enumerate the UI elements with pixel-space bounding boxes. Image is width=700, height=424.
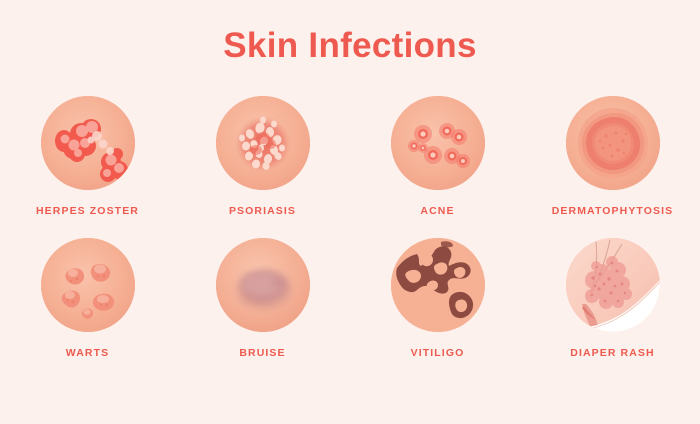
condition-label: ACNE — [420, 205, 454, 217]
condition-label: HERPES ZOSTER — [36, 205, 139, 217]
psoriasis-skin-icon — [216, 96, 310, 190]
condition-card-bruise[interactable]: BRUISE — [175, 238, 350, 380]
condition-label: VITILIGO — [411, 347, 465, 359]
condition-label: PSORIASIS — [229, 205, 296, 217]
dermatophytosis-skin-icon — [566, 96, 660, 190]
condition-label: DERMATOPHYTOSIS — [552, 205, 674, 217]
conditions-grid: HERPES ZOSTER — [0, 96, 700, 380]
condition-card-herpes-zoster[interactable]: HERPES ZOSTER — [0, 96, 175, 238]
acne-skin-icon — [391, 96, 485, 190]
condition-label: BRUISE — [239, 347, 285, 359]
warts-skin-icon — [41, 238, 135, 332]
condition-card-warts[interactable]: WARTS — [0, 238, 175, 380]
diaper-rash-skin-icon — [566, 238, 660, 332]
condition-label: DIAPER RASH — [570, 347, 654, 359]
condition-card-vitiligo[interactable]: VITILIGO — [350, 238, 525, 380]
page-title: Skin Infections — [0, 24, 700, 68]
condition-card-diaper-rash[interactable]: DIAPER RASH — [525, 238, 700, 380]
condition-card-acne[interactable]: ACNE — [350, 96, 525, 238]
vitiligo-skin-icon — [391, 238, 485, 332]
condition-label: WARTS — [66, 347, 109, 359]
condition-card-dermatophytosis[interactable]: DERMATOPHYTOSIS — [525, 96, 700, 238]
bruise-skin-icon — [216, 238, 310, 332]
infographic-poster: Skin Infections — [0, 0, 700, 424]
condition-card-psoriasis[interactable]: PSORIASIS — [175, 96, 350, 238]
herpes-zoster-skin-icon — [41, 96, 135, 190]
